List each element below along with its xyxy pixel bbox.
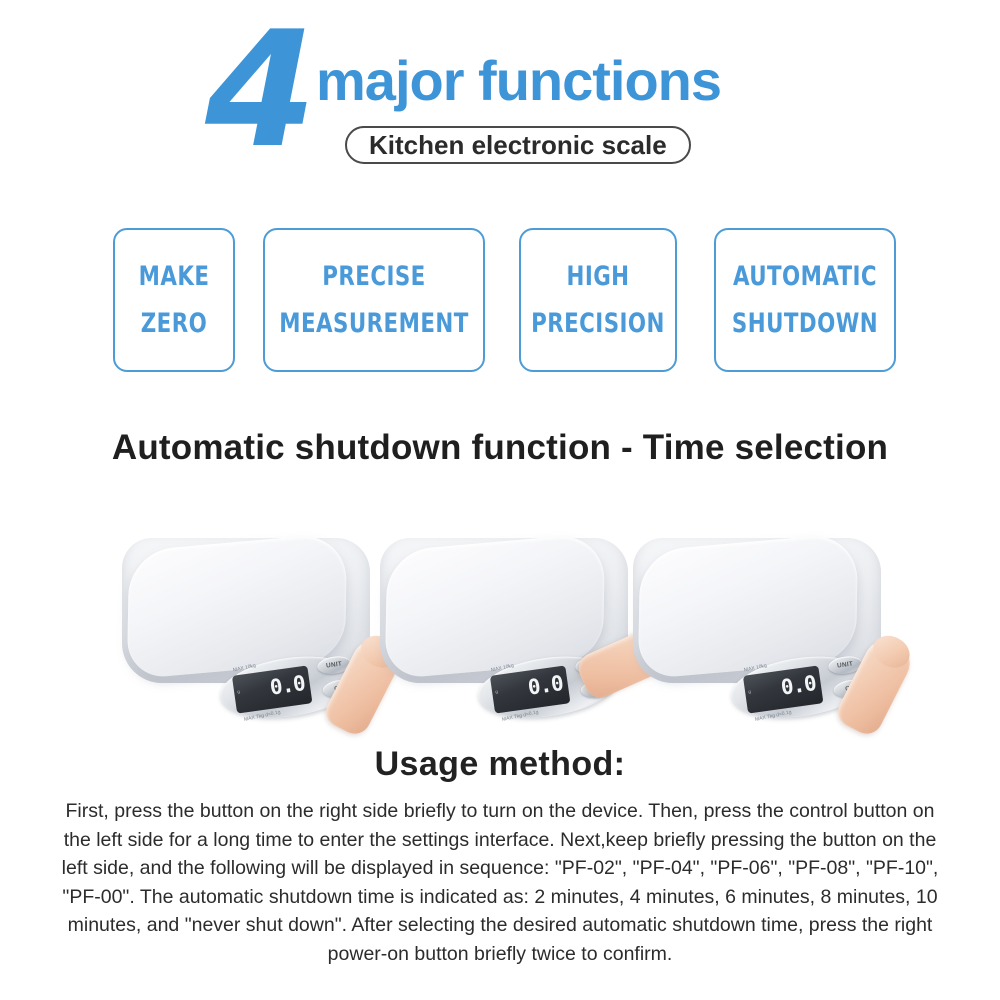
scale-product-photo-1: MAX 10kg g 0.0 MAX 7kg d=0.1g UNIT O/T bbox=[108, 492, 398, 707]
usage-method-heading: Usage method: bbox=[0, 745, 1000, 784]
lcd-value: 0.0 bbox=[527, 673, 565, 699]
feature-line-2: PRECISION bbox=[531, 300, 665, 347]
feature-line-2: MEASUREMENT bbox=[279, 300, 468, 347]
lcd-unit-label: g bbox=[237, 689, 240, 695]
usage-paragraph: First, press the button on the right sid… bbox=[50, 797, 950, 968]
headline-title: major functions bbox=[316, 48, 721, 113]
lcd-unit-label: g bbox=[495, 689, 498, 695]
feature-box-text: MAKE ZERO bbox=[134, 253, 214, 348]
scale-base: MAX 10kg g 0.0 MAX 7kg d=0.1g UNIT O/T bbox=[122, 538, 370, 683]
feature-line-2: SHUTDOWN bbox=[732, 300, 878, 347]
feature-box-automatic-shutdown[interactable]: AUTOMATIC SHUTDOWN bbox=[714, 228, 896, 372]
unit-button-label: UNIT bbox=[326, 661, 343, 670]
subtitle-badge: Kitchen electronic scale bbox=[345, 126, 691, 164]
scale-photo-row: MAX 10kg g 0.0 MAX 7kg d=0.1g UNIT O/T bbox=[0, 492, 1000, 712]
scale-base: MAX 10kg g 0.0 MAX 7kg d=0.1g UNIT O/T bbox=[633, 538, 881, 683]
lcd-value: 0.0 bbox=[269, 673, 307, 699]
section-heading: Automatic shutdown function - Time selec… bbox=[0, 428, 1000, 468]
feature-box-row: MAKE ZERO PRECISE MEASUREMENT HIGH PRECI… bbox=[0, 228, 1000, 373]
feature-line-1: PRECISE bbox=[279, 253, 468, 300]
feature-box-text: AUTOMATIC SHUTDOWN bbox=[722, 253, 888, 348]
feature-line-1: AUTOMATIC bbox=[732, 253, 878, 300]
lcd-display: g 0.0 bbox=[743, 665, 824, 713]
feature-box-high-precision[interactable]: HIGH PRECISION bbox=[519, 228, 677, 372]
header-banner: 4 major functions Kitchen electronic sca… bbox=[0, 0, 1000, 185]
lcd-display: g 0.0 bbox=[232, 665, 313, 713]
feature-box-make-zero[interactable]: MAKE ZERO bbox=[113, 228, 235, 372]
subtitle-label: Kitchen electronic scale bbox=[369, 130, 667, 161]
feature-line-1: MAKE bbox=[139, 253, 210, 300]
big-number-4: 4 bbox=[205, 10, 310, 170]
lcd-display: g 0.0 bbox=[490, 665, 571, 713]
feature-line-2: ZERO bbox=[139, 300, 210, 347]
usage-method-body: First, press the button on the right sid… bbox=[50, 797, 950, 968]
feature-box-text: HIGH PRECISION bbox=[522, 253, 674, 348]
scale-product-photo-2: MAX 10kg g 0.0 MAX 7kg d=0.1g UNIT O/T bbox=[366, 492, 656, 707]
lcd-unit-label: g bbox=[748, 689, 751, 695]
feature-line-1: HIGH bbox=[531, 253, 665, 300]
feature-box-text: PRECISE MEASUREMENT bbox=[266, 253, 481, 348]
lcd-value: 0.0 bbox=[780, 673, 818, 699]
scale-product-photo-3: MAX 10kg g 0.0 MAX 7kg d=0.1g UNIT O/T bbox=[619, 492, 909, 707]
feature-box-precise-measurement[interactable]: PRECISE MEASUREMENT bbox=[263, 228, 485, 372]
unit-button-label: UNIT bbox=[837, 661, 854, 670]
